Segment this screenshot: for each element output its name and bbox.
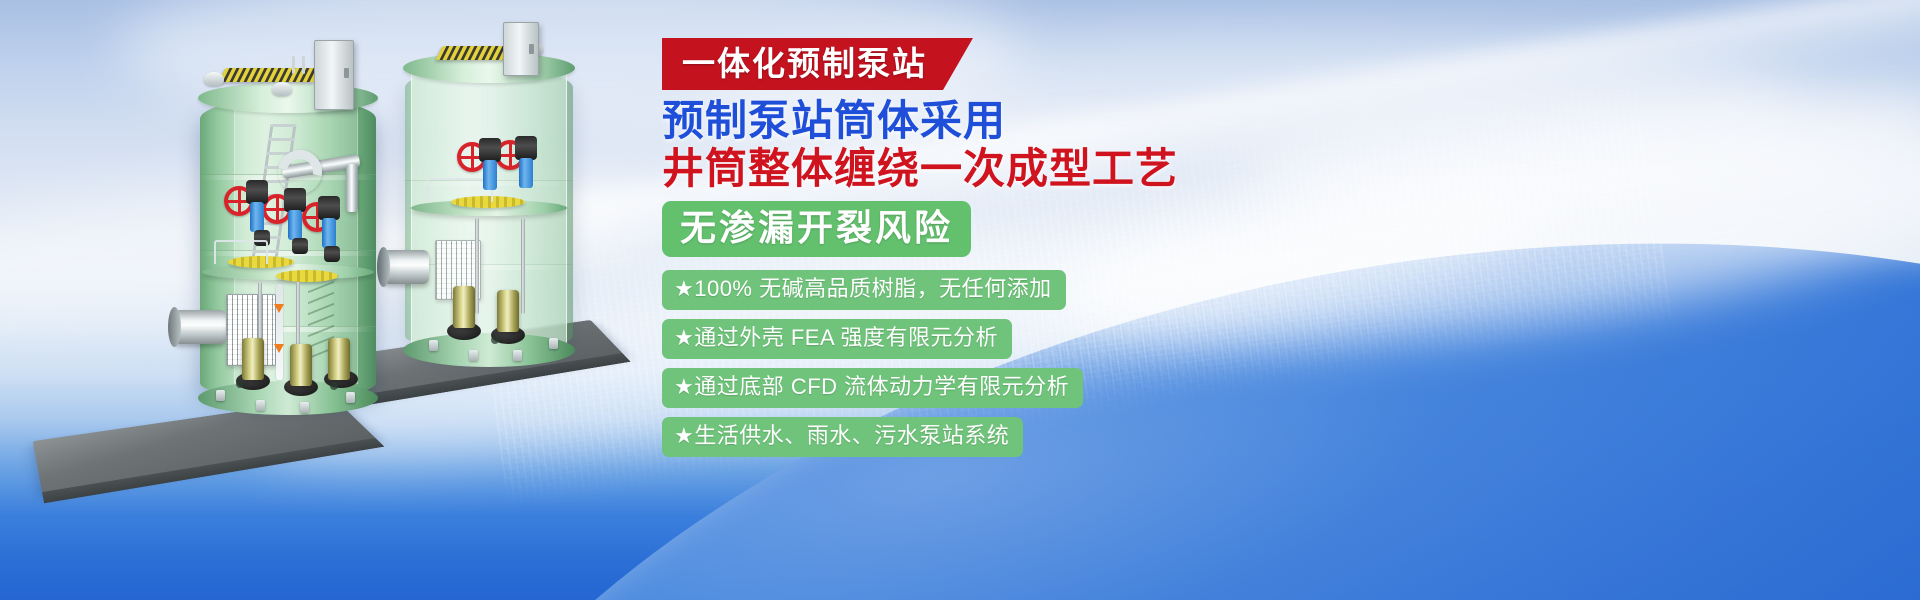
valve-body-front-2 bbox=[284, 188, 306, 212]
control-cabinet-rear bbox=[503, 22, 539, 76]
access-port-front-1 bbox=[236, 380, 244, 388]
promo-banner: 一体化预制泵站 预制泵站筒体采用 井筒整体缠绕一次成型工艺 无渗漏开裂风险 ★1… bbox=[0, 0, 1920, 600]
headline-line-1: 预制泵站筒体采用 bbox=[662, 97, 1382, 145]
valve-body-front-3 bbox=[318, 196, 340, 220]
inlet-pipe-front bbox=[174, 310, 226, 344]
valve-body-front-1 bbox=[246, 180, 268, 204]
access-port-rear bbox=[491, 336, 499, 344]
inlet-pipe-rear bbox=[383, 250, 429, 284]
level-gauge-front bbox=[276, 284, 283, 380]
guide-rail-rear bbox=[475, 218, 479, 314]
check-valve-front-2 bbox=[292, 238, 308, 254]
discharge-riser-front bbox=[346, 164, 358, 212]
submersible-pump-rear-2 bbox=[497, 290, 519, 332]
anchor-bolt-rear bbox=[429, 340, 438, 351]
submersible-pump-front-2 bbox=[290, 344, 312, 386]
guide-rail-rear-2 bbox=[521, 218, 525, 314]
actuator-rear-2 bbox=[519, 158, 533, 188]
lifting-hook-front bbox=[292, 56, 295, 74]
anchor-bolt-front bbox=[300, 402, 309, 413]
flow-arrow-front-2 bbox=[274, 344, 284, 353]
anchor-bolt-front bbox=[346, 392, 355, 403]
access-port-front-2 bbox=[330, 382, 338, 390]
feature-bullet-3: ★通过底部 CFD 流体动力学有限元分析 bbox=[662, 368, 1083, 408]
anchor-bolt-rear bbox=[549, 338, 558, 349]
banner-copy: 一体化预制泵站 预制泵站筒体采用 井筒整体缠绕一次成型工艺 无渗漏开裂风险 ★1… bbox=[662, 38, 1382, 466]
feature-bullet-list: ★100% 无碱高品质树脂，无任何添加 ★通过外壳 FEA 强度有限元分析 ★通… bbox=[662, 270, 1382, 466]
control-cabinet-front bbox=[314, 40, 354, 110]
top-hatch-grating-front bbox=[219, 68, 322, 82]
platform-railing-front bbox=[214, 240, 268, 264]
anchor-bolt-front bbox=[256, 400, 265, 411]
feature-bullet-4: ★生活供水、雨水、污水泵站系统 bbox=[662, 417, 1023, 457]
vent-dome-front-2 bbox=[272, 82, 292, 96]
pump-station-unit-rear bbox=[405, 68, 573, 350]
submersible-pump-front-3 bbox=[328, 338, 350, 380]
feature-bullet-2: ★通过外壳 FEA 强度有限元分析 bbox=[662, 319, 1012, 359]
anchor-bolt-rear bbox=[513, 350, 522, 361]
submersible-pump-front-1 bbox=[242, 338, 264, 380]
actuator-front-1 bbox=[250, 202, 264, 232]
actuator-rear-1 bbox=[483, 160, 497, 190]
platform-grating-front-2 bbox=[276, 270, 338, 282]
lifting-hook-front-2 bbox=[302, 56, 305, 74]
actuator-front-3 bbox=[322, 218, 336, 248]
key-benefit-badge: 无渗漏开裂风险 bbox=[662, 201, 971, 257]
pump-station-unit-front bbox=[200, 98, 376, 398]
valve-body-rear-1 bbox=[479, 138, 501, 162]
headline-line-2: 井筒整体缠绕一次成型工艺 bbox=[662, 145, 1382, 193]
flow-arrow-front-1 bbox=[274, 304, 284, 313]
valve-body-rear-2 bbox=[515, 136, 537, 160]
anchor-bolt-front bbox=[216, 390, 225, 401]
product-category-tag: 一体化预制泵站 bbox=[662, 38, 973, 90]
anchor-bolt-rear bbox=[469, 350, 478, 361]
check-valve-front-3 bbox=[324, 246, 340, 262]
vent-dome-front-1 bbox=[204, 72, 224, 86]
submersible-pump-rear-1 bbox=[453, 286, 475, 328]
product-illustration bbox=[0, 0, 660, 600]
actuator-front-2 bbox=[288, 210, 302, 240]
feature-bullet-1: ★100% 无碱高品质树脂，无任何添加 bbox=[662, 270, 1066, 310]
